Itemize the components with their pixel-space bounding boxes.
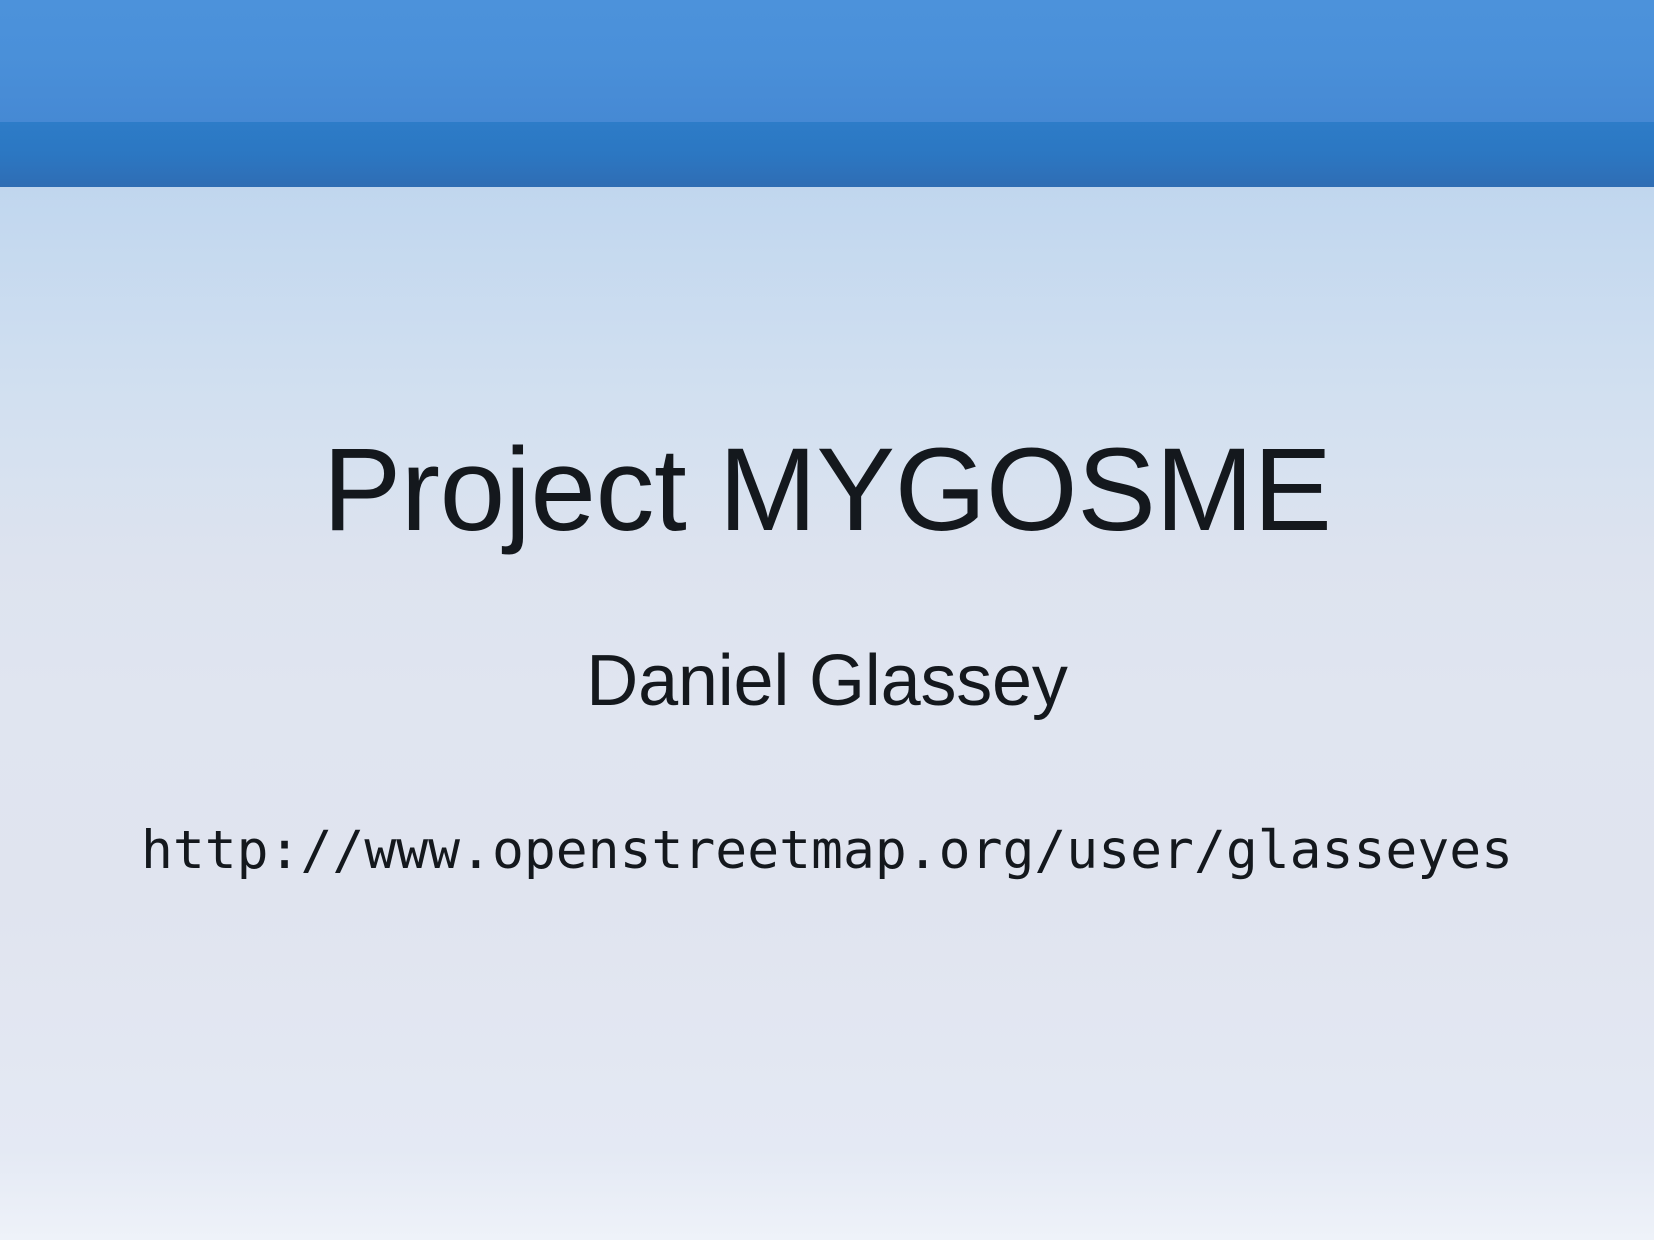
slide-title: Project MYGOSME <box>0 430 1654 550</box>
slide-content: Project MYGOSME Daniel Glassey http://ww… <box>0 187 1654 1240</box>
banner-lower-band <box>0 122 1654 187</box>
slide-header-banner <box>0 0 1654 187</box>
slide-author: Daniel Glassey <box>0 644 1654 720</box>
slide-url: http://www.openstreetmap.org/user/glasse… <box>0 823 1654 879</box>
presentation-slide: Project MYGOSME Daniel Glassey http://ww… <box>0 0 1654 1240</box>
banner-upper-band <box>0 0 1654 122</box>
